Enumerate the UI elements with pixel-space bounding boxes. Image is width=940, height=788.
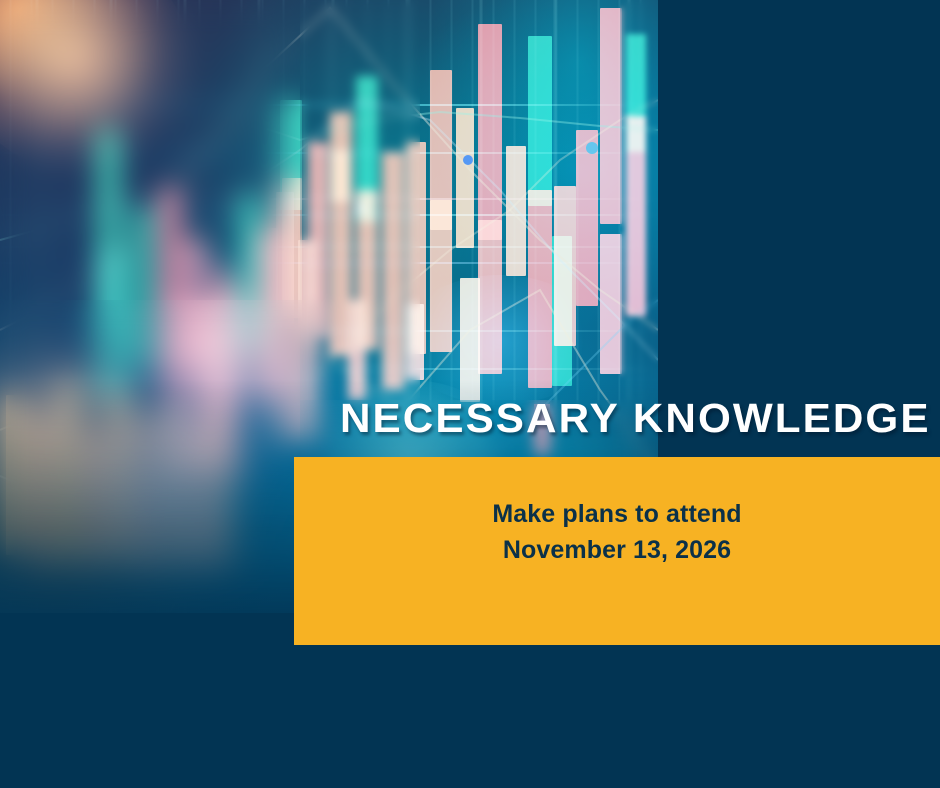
event-callout-box: Make plans to attend November 13, 2026: [294, 457, 940, 645]
page-title: NECESSARY KNOWLEDGE: [340, 398, 927, 439]
callout-line-2: November 13, 2026: [503, 533, 731, 569]
callout-line-1: Make plans to attend: [492, 497, 741, 533]
poster-canvas: NECESSARY KNOWLEDGE Make plans to attend…: [0, 0, 940, 788]
